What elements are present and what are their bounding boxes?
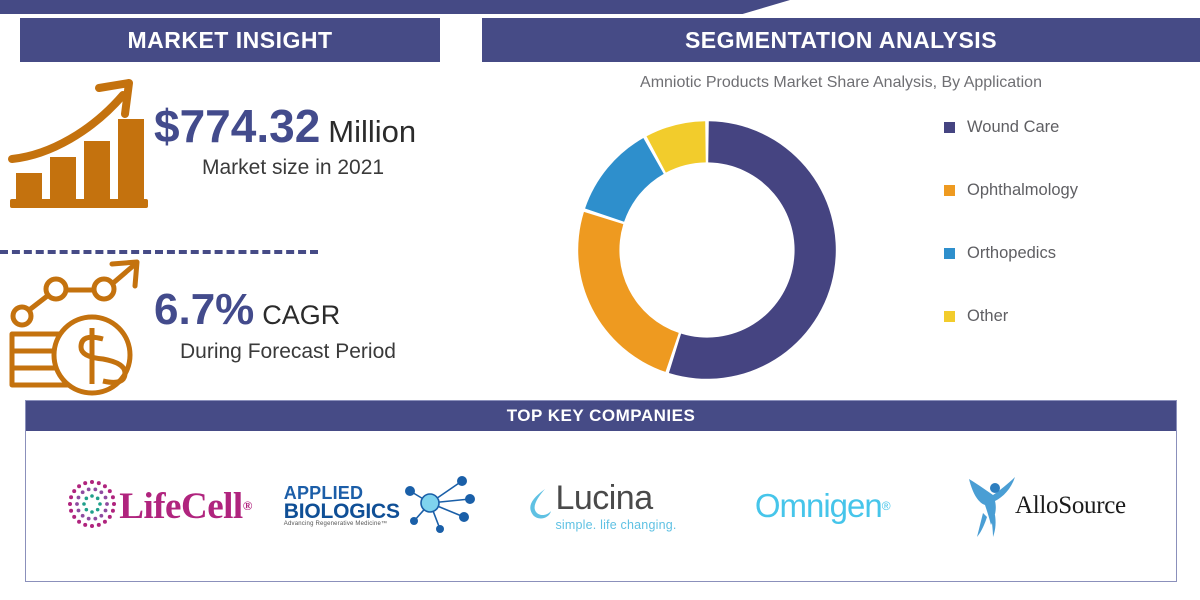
allosource-wordmark: AlloSource: [1015, 492, 1126, 520]
legend-label: Wound Care: [967, 118, 1059, 137]
legend-item-other[interactable]: Other: [944, 307, 1078, 326]
company-logo-omnigen[interactable]: Omnigen®: [712, 451, 933, 561]
top-accent-band: [0, 0, 790, 14]
company-logo-lucina[interactable]: Lucina simple. life changing.: [490, 451, 711, 561]
company-logo-strip: LifeCell® APPLIED BIOLOGICS Advancing Re…: [26, 431, 1176, 581]
omnigen-registered-mark: ®: [882, 499, 890, 513]
segmentation-header: SEGMENTATION ANALYSIS: [482, 18, 1200, 62]
donut-segment-orthopedics[interactable]: [585, 138, 664, 222]
market-insight-header: MARKET INSIGHT: [20, 18, 440, 62]
applied-tagline: Advancing Regenerative Medicine™: [284, 522, 400, 528]
top-key-companies-panel: TOP KEY COMPANIES LifeCell® APPLIED BIOL…: [25, 400, 1177, 582]
cagr-stat: 6.7%CAGR During Forecast Period: [0, 258, 470, 393]
market-size-unit: Million: [320, 114, 416, 149]
market-size-value: $774.32: [154, 100, 320, 152]
legend-label: Other: [967, 307, 1008, 326]
market-insight-panel: MARKET INSIGHT $774.32Million Market siz…: [0, 18, 470, 388]
legend-swatch-icon: [944, 311, 955, 322]
legend-swatch-icon: [944, 248, 955, 259]
lucina-text-block: Lucina simple. life changing.: [555, 481, 676, 532]
legend-swatch-icon: [944, 185, 955, 196]
cagr-caption: During Forecast Period: [154, 340, 396, 364]
coins-growth-icon: [0, 256, 150, 396]
section-divider: [0, 250, 318, 254]
market-size-text: $774.32Million Market size in 2021: [150, 102, 416, 180]
cagr-text: 6.7%CAGR During Forecast Period: [150, 287, 396, 363]
leaping-figure-icon: [961, 469, 1015, 544]
lucina-wordmark: Lucina: [555, 481, 676, 515]
chart-legend: Wound CareOphthalmologyOrthopedicsOther: [944, 118, 1078, 326]
donut-segment-ophthalmology[interactable]: [578, 212, 679, 372]
bar-chart-growth-icon: [0, 71, 150, 211]
legend-item-ophthalmology[interactable]: Ophthalmology: [944, 181, 1078, 200]
market-share-donut-chart: [567, 110, 847, 390]
applied-biologics-wordmark: APPLIED BIOLOGICS Advancing Regenerative…: [284, 485, 400, 528]
network-nodes-icon: [400, 473, 476, 540]
market-size-caption: Market size in 2021: [154, 156, 416, 180]
legend-swatch-icon: [944, 122, 955, 133]
swirl-drop-icon: [525, 485, 555, 528]
applied-line-2: BIOLOGICS: [284, 502, 400, 522]
lifecell-wordmark: LifeCell: [119, 485, 242, 528]
legend-item-orthopedics[interactable]: Orthopedics: [944, 244, 1078, 263]
lifecell-registered-mark: ®: [243, 498, 252, 514]
cagr-unit: CAGR: [254, 300, 340, 330]
company-logo-allosource[interactable]: AlloSource: [933, 451, 1154, 561]
omnigen-wordmark: Omnigen: [755, 487, 882, 525]
dotted-circle-icon: [65, 477, 119, 536]
market-size-stat: $774.32Million Market size in 2021: [0, 66, 470, 216]
legend-item-wound-care[interactable]: Wound Care: [944, 118, 1078, 137]
company-logo-applied-biologics[interactable]: APPLIED BIOLOGICS Advancing Regenerative…: [269, 451, 490, 561]
companies-header: TOP KEY COMPANIES: [26, 401, 1176, 431]
company-logo-lifecell[interactable]: LifeCell®: [48, 451, 269, 561]
cagr-value-row: 6.7%CAGR: [154, 287, 396, 333]
lucina-tagline: simple. life changing.: [555, 518, 676, 532]
cagr-value: 6.7%: [154, 285, 254, 334]
chart-subtitle: Amniotic Products Market Share Analysis,…: [482, 74, 1200, 92]
market-size-value-row: $774.32Million: [154, 102, 416, 150]
legend-label: Orthopedics: [967, 244, 1056, 263]
legend-label: Ophthalmology: [967, 181, 1078, 200]
segmentation-analysis-panel: SEGMENTATION ANALYSIS Amniotic Products …: [482, 18, 1200, 388]
